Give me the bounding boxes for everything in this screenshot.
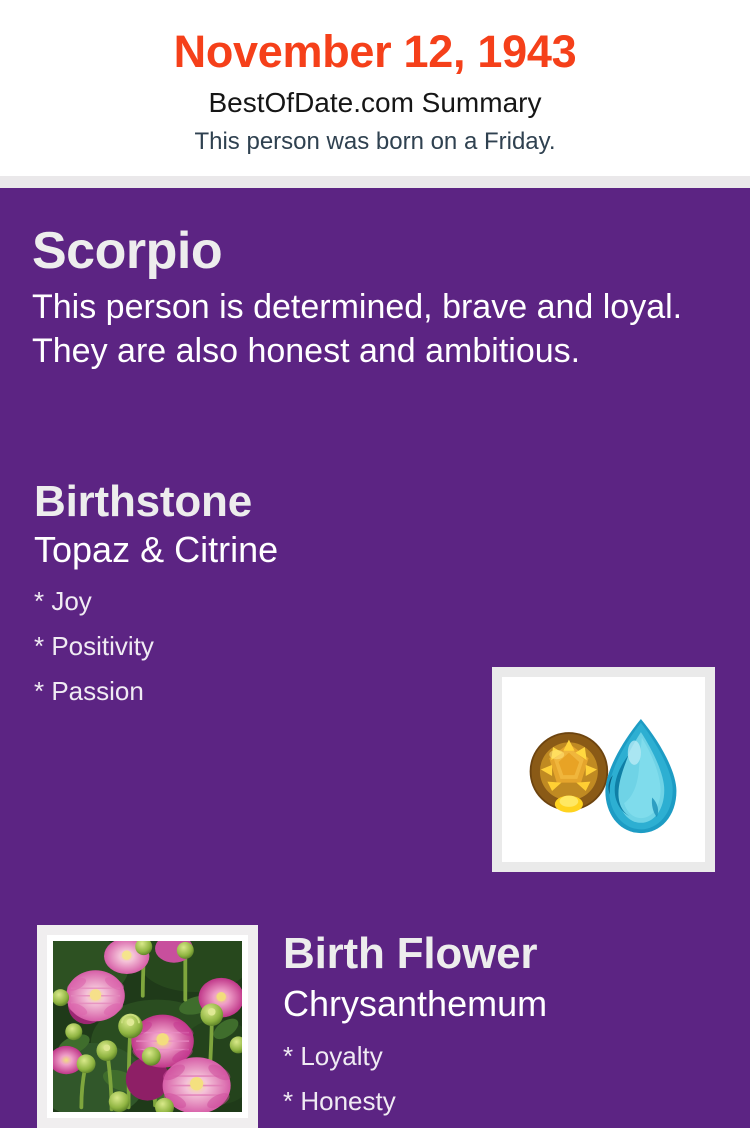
birthstone-photo-inner xyxy=(502,677,705,862)
header-divider xyxy=(0,176,750,188)
birthstone-photo xyxy=(510,685,697,854)
zodiac-sign-name: Scorpio xyxy=(32,222,712,280)
summary-card: November 12, 1943 BestOfDate.com Summary… xyxy=(0,0,750,1000)
born-day-note: This person was born on a Friday. xyxy=(0,120,750,157)
birthstone-photo-frame xyxy=(492,667,715,872)
birthstone-section: Birthstone Topaz & Citrine * Joy * Posit… xyxy=(34,477,474,714)
birth-flower-heading: Birth Flower xyxy=(283,928,733,980)
page-title: November 12, 1943 xyxy=(0,0,750,80)
birth-flower-photo xyxy=(53,941,242,1112)
list-item: * Joy xyxy=(34,579,474,624)
birth-flower-trait-list: * Loyalty * Honesty xyxy=(283,1026,733,1124)
birthstone-trait-list: * Joy * Positivity * Passion xyxy=(34,571,474,714)
list-item: * Loyalty xyxy=(283,1034,733,1079)
zodiac-description: This person is determined, brave and loy… xyxy=(32,280,697,373)
list-item: * Passion xyxy=(34,669,474,714)
birth-flower-photo-frame xyxy=(37,925,258,1128)
birth-flower-name: Chrysanthemum xyxy=(283,980,733,1026)
birth-flower-photo-inner xyxy=(47,935,248,1118)
header: November 12, 1943 BestOfDate.com Summary… xyxy=(0,0,750,176)
content-panel: Scorpio This person is determined, brave… xyxy=(0,188,750,1000)
zodiac-section: Scorpio This person is determined, brave… xyxy=(32,222,712,373)
birthstone-name: Topaz & Citrine xyxy=(34,527,474,571)
site-subtitle: BestOfDate.com Summary xyxy=(0,80,750,120)
list-item: * Honesty xyxy=(283,1079,733,1124)
birthstone-heading: Birthstone xyxy=(34,477,474,527)
birth-flower-section: Birth Flower Chrysanthemum * Loyalty * H… xyxy=(283,928,733,1124)
list-item: * Positivity xyxy=(34,624,474,669)
